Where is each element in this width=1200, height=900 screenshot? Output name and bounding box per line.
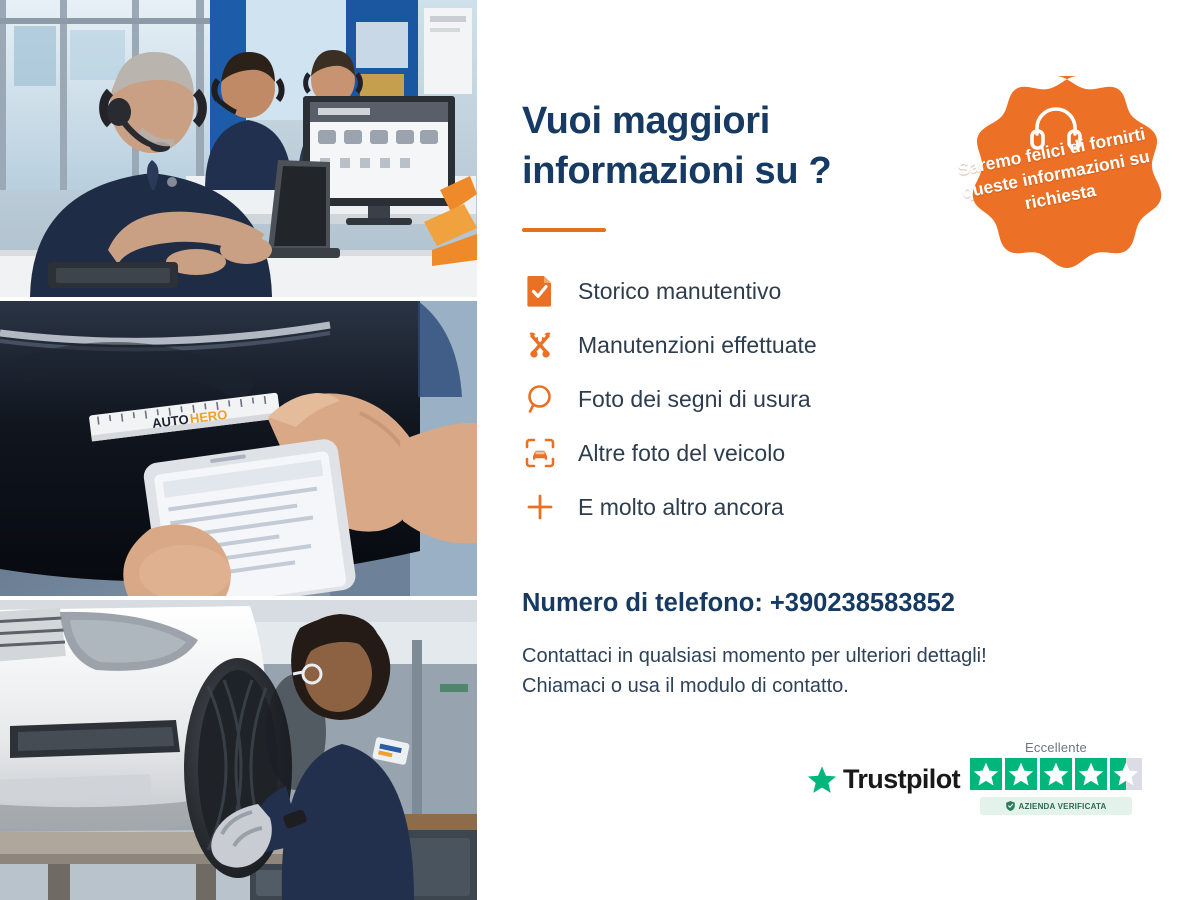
shield-check-icon [1006,801,1015,811]
plus-icon [522,488,558,526]
content-column: Vuoi maggiori informazioni su ? Saremo f… [477,0,1200,900]
star-half [1110,758,1142,790]
verified-label: AZIENDA VERIFICATA [1019,802,1107,811]
photo-column: AUTO HERO [0,0,477,900]
feature-label: Altre foto del veicolo [578,434,785,472]
trustpilot-logo: Trustpilot [807,764,960,795]
feature-list: Storico manutentivo Manutenzi [522,272,992,542]
star-filled [1075,758,1107,790]
car-scan-frame-icon [522,434,558,472]
promo-banner: AUTO HERO [0,0,1200,900]
feature-label: E molto altro ancora [578,488,784,526]
headline-line-2: informazioni su ? [522,146,942,196]
mechanic-wheel-photo [0,600,477,900]
star-filled [1040,758,1072,790]
trustpilot-widget[interactable]: Trustpilot Eccellente [807,740,1147,840]
contact-note-line-2: Chiamaci o usa il modulo di contatto. [522,675,849,698]
feature-label: Foto dei segni di usura [578,380,811,418]
vehicle-inspection-photo: AUTO HERO [0,301,477,596]
phone-number-line[interactable]: Numero di telefono: +390238583852 [522,589,955,618]
page-title: Vuoi maggiori informazioni su ? [522,96,942,196]
mechanic-photo-canvas [0,600,477,900]
list-item: Altre foto del veicolo [522,434,992,488]
magnifier-icon [522,380,558,418]
star-filled [1005,758,1037,790]
headline-line-1: Vuoi maggiori [522,96,942,146]
document-check-icon [522,272,558,310]
list-item: Manutenzioni effettuate [522,326,992,380]
trustpilot-wordmark: Trustpilot [843,764,960,795]
inspection-photo-canvas: AUTO HERO [0,301,477,596]
trustpilot-star-icon [807,765,837,795]
list-item: Storico manutentivo [522,272,992,326]
headline-divider [522,228,606,232]
trustpilot-rating: Eccellente [970,740,1142,815]
list-item: E molto altro ancora [522,488,992,542]
call-center-photo-canvas [0,0,477,297]
tools-wrench-screwdriver-icon [522,326,558,364]
call-center-agents-photo [0,0,477,297]
feature-label: Storico manutentivo [578,272,781,310]
star-filled [970,758,1002,790]
feature-label: Manutenzioni effettuate [578,326,817,364]
verified-business-badge: AZIENDA VERIFICATA [980,797,1132,815]
star-rating [970,758,1142,790]
rating-word: Eccellente [970,740,1142,755]
contact-note-line-1: Contattaci in qualsiasi momento per ulte… [522,645,987,668]
list-item: Foto dei segni di usura [522,380,992,434]
